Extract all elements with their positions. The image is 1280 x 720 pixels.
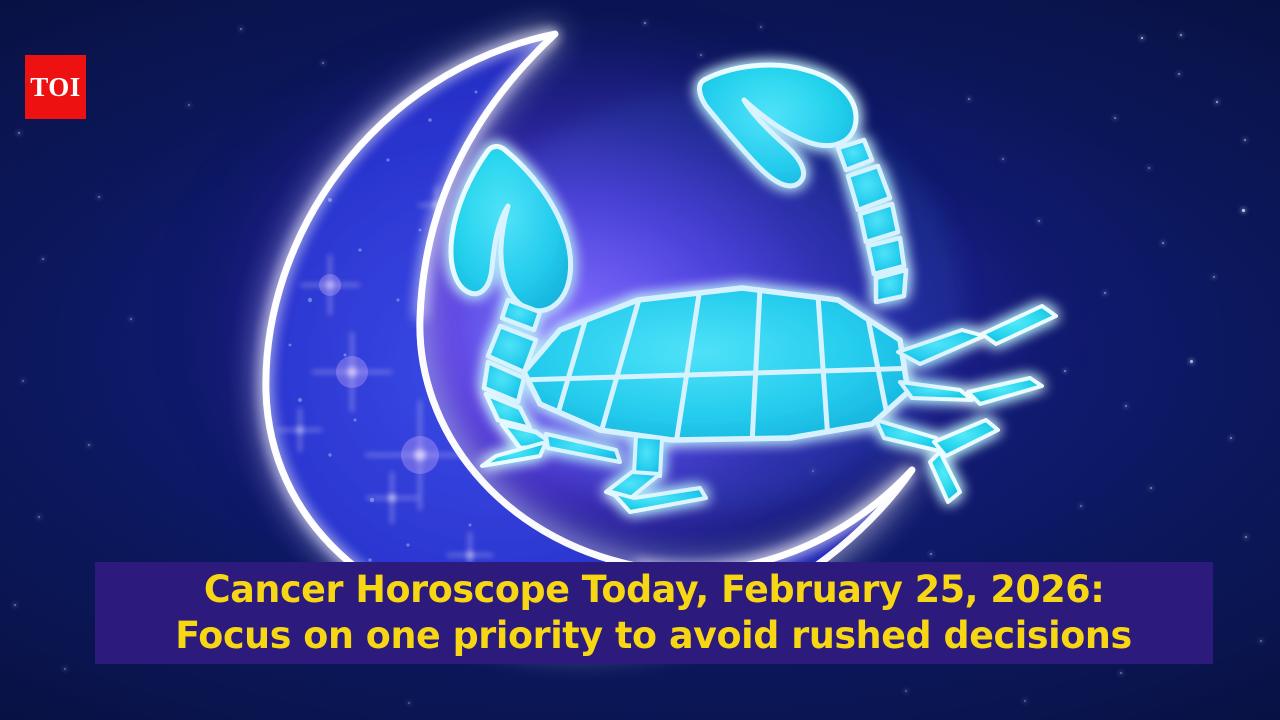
screenshot-root: TOI Cancer Horoscope Today, February 25,… [0,0,1280,720]
caption-line-1: Cancer Horoscope Today, February 25, 202… [204,567,1105,613]
toi-logo-text: TOI [30,74,81,101]
caption-banner: Cancer Horoscope Today, February 25, 202… [95,562,1213,664]
times-of-india-logo[interactable]: TOI [25,55,86,119]
caption-line-2: Focus on one priority to avoid rushed de… [176,613,1132,659]
